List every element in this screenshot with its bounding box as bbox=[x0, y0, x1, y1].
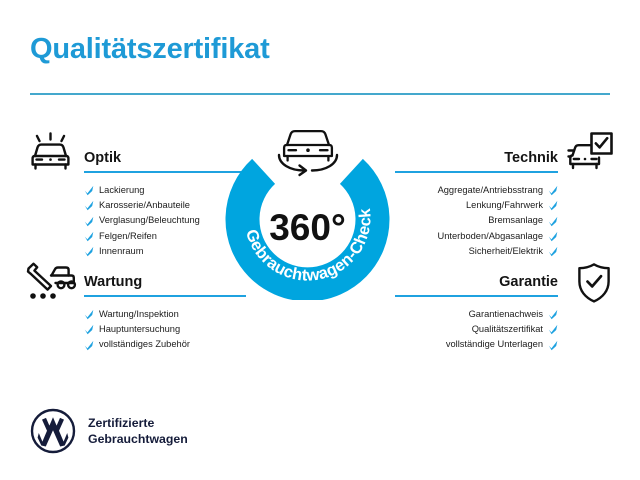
check-icon bbox=[84, 309, 94, 320]
list-item-label: Wartung/Inspektion bbox=[99, 307, 179, 322]
check-icon bbox=[548, 246, 558, 257]
list-item: Unterboden/Abgasanlage bbox=[395, 229, 558, 244]
list-item: Felgen/Reifen bbox=[84, 229, 246, 244]
section-header: Garantie bbox=[395, 272, 558, 298]
list-item: vollständige Unterlagen bbox=[395, 337, 558, 352]
check-icon bbox=[84, 231, 94, 242]
list-item: Wartung/Inspektion bbox=[84, 307, 246, 322]
list-item-label: Lenkung/Fahrwerk bbox=[466, 198, 543, 213]
list-item-label: Qualitätszertifikat bbox=[472, 322, 543, 337]
list-item: Verglasung/Beleuchtung bbox=[84, 213, 246, 228]
footer-text: Zertifizierte Gebrauchtwagen bbox=[88, 415, 188, 447]
title-divider bbox=[30, 93, 610, 95]
badge-center-label: 360° bbox=[269, 207, 346, 248]
car-checkbox-icon bbox=[566, 131, 614, 178]
page-title: Qualitätszertifikat bbox=[30, 33, 270, 66]
list-item: Qualitätszertifikat bbox=[395, 322, 558, 337]
check-icon bbox=[84, 340, 94, 351]
section-title: Wartung bbox=[84, 272, 246, 292]
section-technik: Technik Aggregate/Antriebsstrang Lenkung… bbox=[395, 148, 558, 259]
section-wartung: Wartung Wartung/Inspektion Hauptuntersuc… bbox=[84, 272, 246, 353]
list-item: Innenraum bbox=[84, 244, 246, 259]
list-item-label: vollständige Unterlagen bbox=[446, 337, 543, 352]
car-front-rotate-icon bbox=[271, 123, 345, 179]
list-item-label: Aggregate/Antriebsstrang bbox=[438, 183, 543, 198]
360-check-badge: Gebrauchtwagen-Check 360° bbox=[225, 135, 390, 300]
check-icon bbox=[548, 309, 558, 320]
check-icon bbox=[548, 185, 558, 196]
section-divider bbox=[395, 171, 558, 173]
section-title: Technik bbox=[395, 148, 558, 168]
list-item-label: Bremsanlage bbox=[488, 213, 543, 228]
footer-brand: Zertifizierte Gebrauchtwagen bbox=[30, 408, 188, 454]
list-item-label: Verglasung/Beleuchtung bbox=[99, 213, 200, 228]
list-item: vollständiges Zubehör bbox=[84, 337, 246, 352]
list-item: Bremsanlage bbox=[395, 213, 558, 228]
check-icon bbox=[548, 216, 558, 227]
shield-check-icon bbox=[575, 262, 613, 309]
car-shine-icon bbox=[28, 131, 74, 178]
section-garantie: Garantie Garantienachweis Qualitätszerti… bbox=[395, 272, 558, 353]
check-list-wartung: Wartung/Inspektion Hauptuntersuchung vol… bbox=[84, 307, 246, 353]
check-icon bbox=[548, 231, 558, 242]
check-icon bbox=[548, 340, 558, 351]
check-icon bbox=[84, 200, 94, 211]
section-divider bbox=[84, 295, 246, 297]
section-divider bbox=[395, 295, 558, 297]
check-list-technik: Aggregate/Antriebsstrang Lenkung/Fahrwer… bbox=[395, 183, 558, 259]
list-item: Sicherheit/Elektrik bbox=[395, 244, 558, 259]
list-item-label: vollständiges Zubehör bbox=[99, 337, 190, 352]
list-item: Hauptuntersuchung bbox=[84, 322, 246, 337]
check-icon bbox=[548, 324, 558, 335]
section-header: Wartung bbox=[84, 272, 246, 298]
certificate-page: Qualitätszertifikat Optik Lackierung bbox=[0, 0, 640, 480]
list-item-label: Felgen/Reifen bbox=[99, 229, 157, 244]
list-item-label: Karosserie/Anbauteile bbox=[99, 198, 190, 213]
list-item-label: Unterboden/Abgasanlage bbox=[438, 229, 543, 244]
section-header: Technik bbox=[395, 148, 558, 174]
check-list-optik: Lackierung Karosserie/Anbauteile Verglas… bbox=[84, 183, 246, 259]
section-divider bbox=[84, 171, 246, 173]
list-item-label: Hauptuntersuchung bbox=[99, 322, 180, 337]
section-title: Garantie bbox=[395, 272, 558, 292]
list-item: Lackierung bbox=[84, 183, 246, 198]
check-icon bbox=[548, 200, 558, 211]
check-icon bbox=[84, 216, 94, 227]
check-icon bbox=[84, 324, 94, 335]
section-header: Optik bbox=[84, 148, 246, 174]
list-item: Karosserie/Anbauteile bbox=[84, 198, 246, 213]
list-item: Aggregate/Antriebsstrang bbox=[395, 183, 558, 198]
section-title: Optik bbox=[84, 148, 246, 168]
list-item: Garantienachweis bbox=[395, 307, 558, 322]
check-icon bbox=[84, 246, 94, 257]
list-item: Lenkung/Fahrwerk bbox=[395, 198, 558, 213]
check-icon bbox=[84, 185, 94, 196]
volkswagen-logo bbox=[30, 408, 76, 454]
section-optik: Optik Lackierung Karosserie/Anbauteile V… bbox=[84, 148, 246, 259]
list-item-label: Sicherheit/Elektrik bbox=[469, 244, 543, 259]
list-item-label: Garantienachweis bbox=[469, 307, 543, 322]
check-list-garantie: Garantienachweis Qualitätszertifikat vol… bbox=[395, 307, 558, 353]
wrench-car-icon bbox=[25, 262, 77, 309]
list-item-label: Lackierung bbox=[99, 183, 144, 198]
list-item-label: Innenraum bbox=[99, 244, 143, 259]
